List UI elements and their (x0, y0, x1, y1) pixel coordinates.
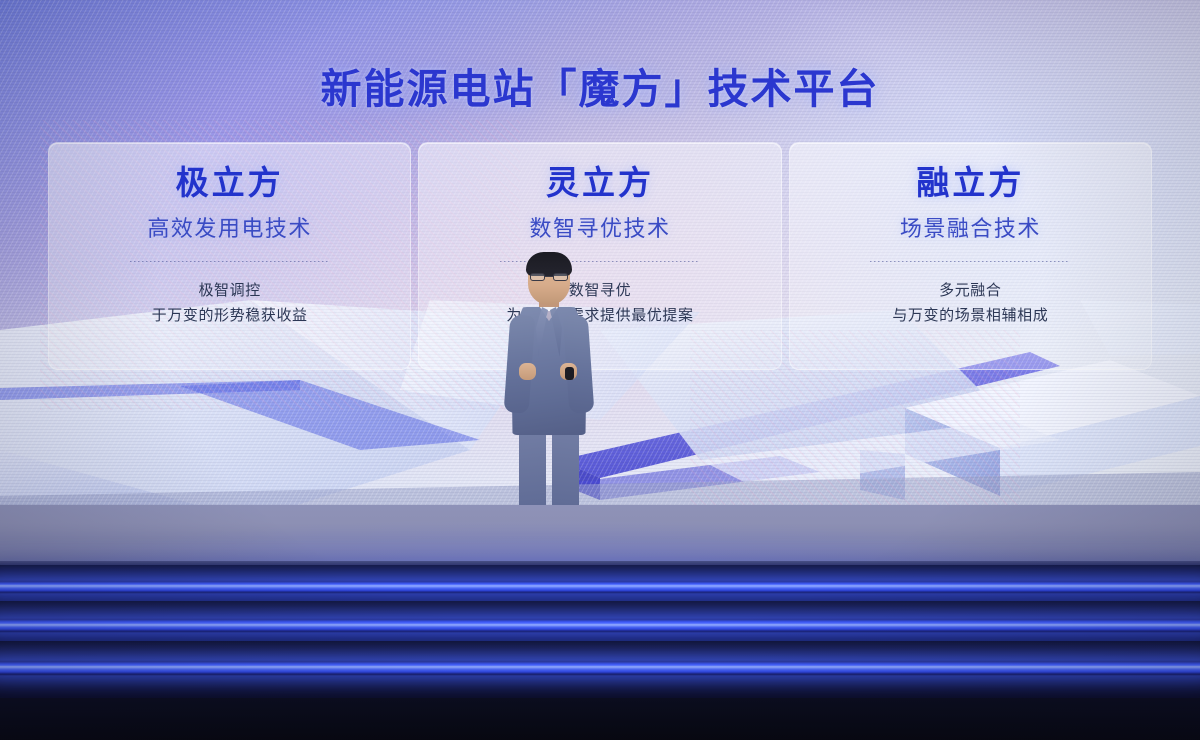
feature-card-3: 融立方 场景融合技术 多元融合 与万变的场景相辅相成 (789, 142, 1152, 370)
presentation-stage-photo: 新能源电站「魔方」技术平台 极立方 高效发用电技术 极智调控 于万变的形势稳获收… (0, 0, 1200, 740)
card-title: 灵立方 (419, 165, 780, 201)
stage-deck (0, 505, 1200, 565)
card-subtitle: 数智寻优技术 (419, 211, 780, 243)
card-title: 极立方 (49, 165, 410, 201)
card-body: 多元融合 与万变的场景相辅相成 (790, 279, 1151, 328)
presenter-clicker (565, 367, 574, 380)
card-subtitle: 场景融合技术 (790, 211, 1151, 243)
card-subtitle: 高效发用电技术 (49, 211, 410, 243)
page-title: 新能源电站「魔方」技术平台 (0, 55, 1200, 115)
card-title: 融立方 (790, 165, 1151, 201)
stage-deck-glow (0, 505, 1200, 565)
stage-platform (0, 505, 1200, 740)
card-body-line-2: 与万变的场景相辅相成 (790, 304, 1151, 328)
card-body-line-2: 于万变的形势稳获收益 (49, 304, 410, 328)
card-body: 极智调控 于万变的形势稳获收益 (49, 279, 410, 328)
stage-front-floor (0, 698, 1200, 740)
feature-card-1: 极立方 高效发用电技术 极智调控 于万变的形势稳获收益 (48, 142, 411, 370)
card-divider (130, 261, 330, 262)
speaker-hand-left (519, 363, 536, 380)
card-divider (870, 261, 1070, 262)
card-body-line-1: 多元融合 (790, 279, 1151, 303)
eyeglasses-icon (530, 273, 568, 281)
card-body-line-1: 极智调控 (49, 279, 410, 303)
